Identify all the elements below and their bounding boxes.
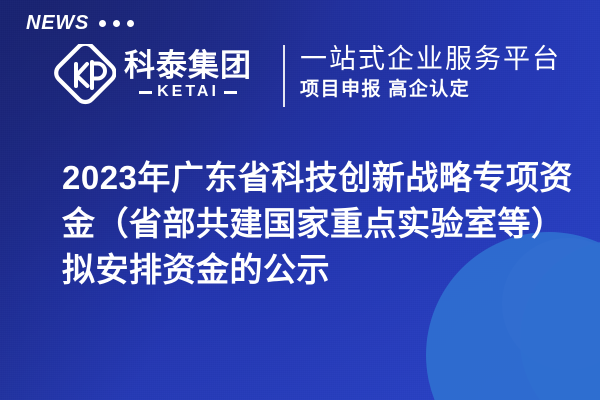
tagline-block: 一站式企业服务平台 项目申报 高企认定: [300, 44, 561, 102]
vertical-divider: [283, 45, 285, 107]
brand-name-cn: 科泰集团: [124, 50, 252, 83]
headline-line-3: 拟安排资金的公示: [62, 247, 574, 293]
brand-lockup: 科泰集团 KETAI: [54, 44, 252, 106]
brand-name-en-row: KETAI: [124, 84, 252, 100]
news-dot-icon: [99, 20, 106, 27]
brand-name-en: KETAI: [157, 84, 219, 100]
headline-block: 2023年广东省科技创新战略专项资 金（省部共建国家重点实验室等） 拟安排资金的…: [62, 155, 574, 293]
tagline-main: 一站式企业服务平台: [300, 44, 561, 75]
news-eyebrow: NEWS: [26, 13, 134, 33]
ketai-diamond-kp-logo-icon: [54, 44, 116, 106]
news-label: NEWS: [26, 13, 89, 33]
brand-wordmark: 科泰集团 KETAI: [124, 50, 252, 101]
wordmark-dash-right-icon: [224, 91, 237, 94]
news-banner: NEWS 科泰集团: [0, 0, 600, 400]
news-dot-icon: [127, 20, 134, 27]
news-dots-icon: [99, 20, 134, 27]
wordmark-dash-left-icon: [139, 91, 152, 94]
news-dot-icon: [113, 20, 120, 27]
headline-line-2: 金（省部共建国家重点实验室等）: [62, 201, 574, 247]
headline-line-1: 2023年广东省科技创新战略专项资: [62, 155, 574, 201]
tagline-sub: 项目申报 高企认定: [300, 79, 561, 102]
